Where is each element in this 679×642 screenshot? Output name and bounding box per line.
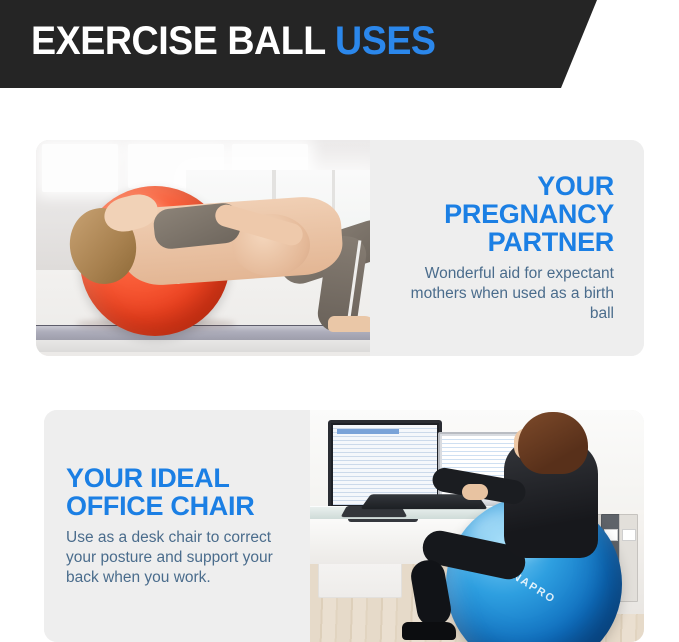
card-pregnancy-heading-line-2: PREGNANCY — [444, 199, 614, 229]
card-office-chair: YOUR IDEAL OFFICE CHAIR Use as a desk ch… — [44, 410, 644, 642]
photo-scene-pregnancy: DYNAPRO — [36, 140, 370, 356]
card-pregnancy-heading-line-1: YOUR — [537, 171, 614, 201]
page-title: EXERCISE BALL USES — [31, 19, 436, 63]
card-office-body: Use as a desk chair to correct your post… — [66, 528, 294, 588]
photo-scene-office: DYNAPRO — [310, 410, 644, 642]
card-pregnancy-heading-line-3: PARTNER — [488, 227, 614, 257]
screen-titlebar — [337, 429, 399, 434]
card-pregnancy-heading: YOUR PREGNANCY PARTNER — [444, 172, 614, 256]
woman-sitting-on-exercise-ball-at-desk-photo: DYNAPRO — [310, 410, 644, 642]
card-office-heading-line-1: YOUR IDEAL — [66, 463, 230, 493]
page-title-accent: USES — [335, 19, 436, 63]
pregnant-woman-on-exercise-ball-photo: DYNAPRO — [36, 140, 370, 356]
page-title-primary: EXERCISE BALL — [31, 19, 335, 63]
woman-shoe — [402, 622, 456, 640]
infographic-page: EXERCISE BALL USES — [0, 0, 679, 634]
card-office-text-panel: YOUR IDEAL OFFICE CHAIR Use as a desk ch… — [44, 410, 310, 642]
woman-foot — [328, 316, 370, 332]
floor-foreground — [36, 340, 370, 352]
card-pregnancy-text-panel: YOUR PREGNANCY PARTNER Wonderful aid for… — [370, 140, 644, 356]
header-banner: EXERCISE BALL USES — [0, 0, 679, 88]
woman-hair — [518, 412, 588, 474]
monitor-screen — [333, 425, 437, 505]
card-pregnancy: DYNAPRO YOUR PREGNANCY PARTNER Wonderful… — [36, 140, 644, 356]
card-pregnancy-body: Wonderful aid for expectant mothers when… — [384, 264, 614, 324]
card-office-heading-line-2: OFFICE CHAIR — [66, 491, 254, 521]
window-pane — [42, 144, 118, 192]
woman-hand — [462, 484, 488, 500]
binder-label — [622, 529, 636, 541]
card-office-heading: YOUR IDEAL OFFICE CHAIR — [66, 464, 254, 520]
